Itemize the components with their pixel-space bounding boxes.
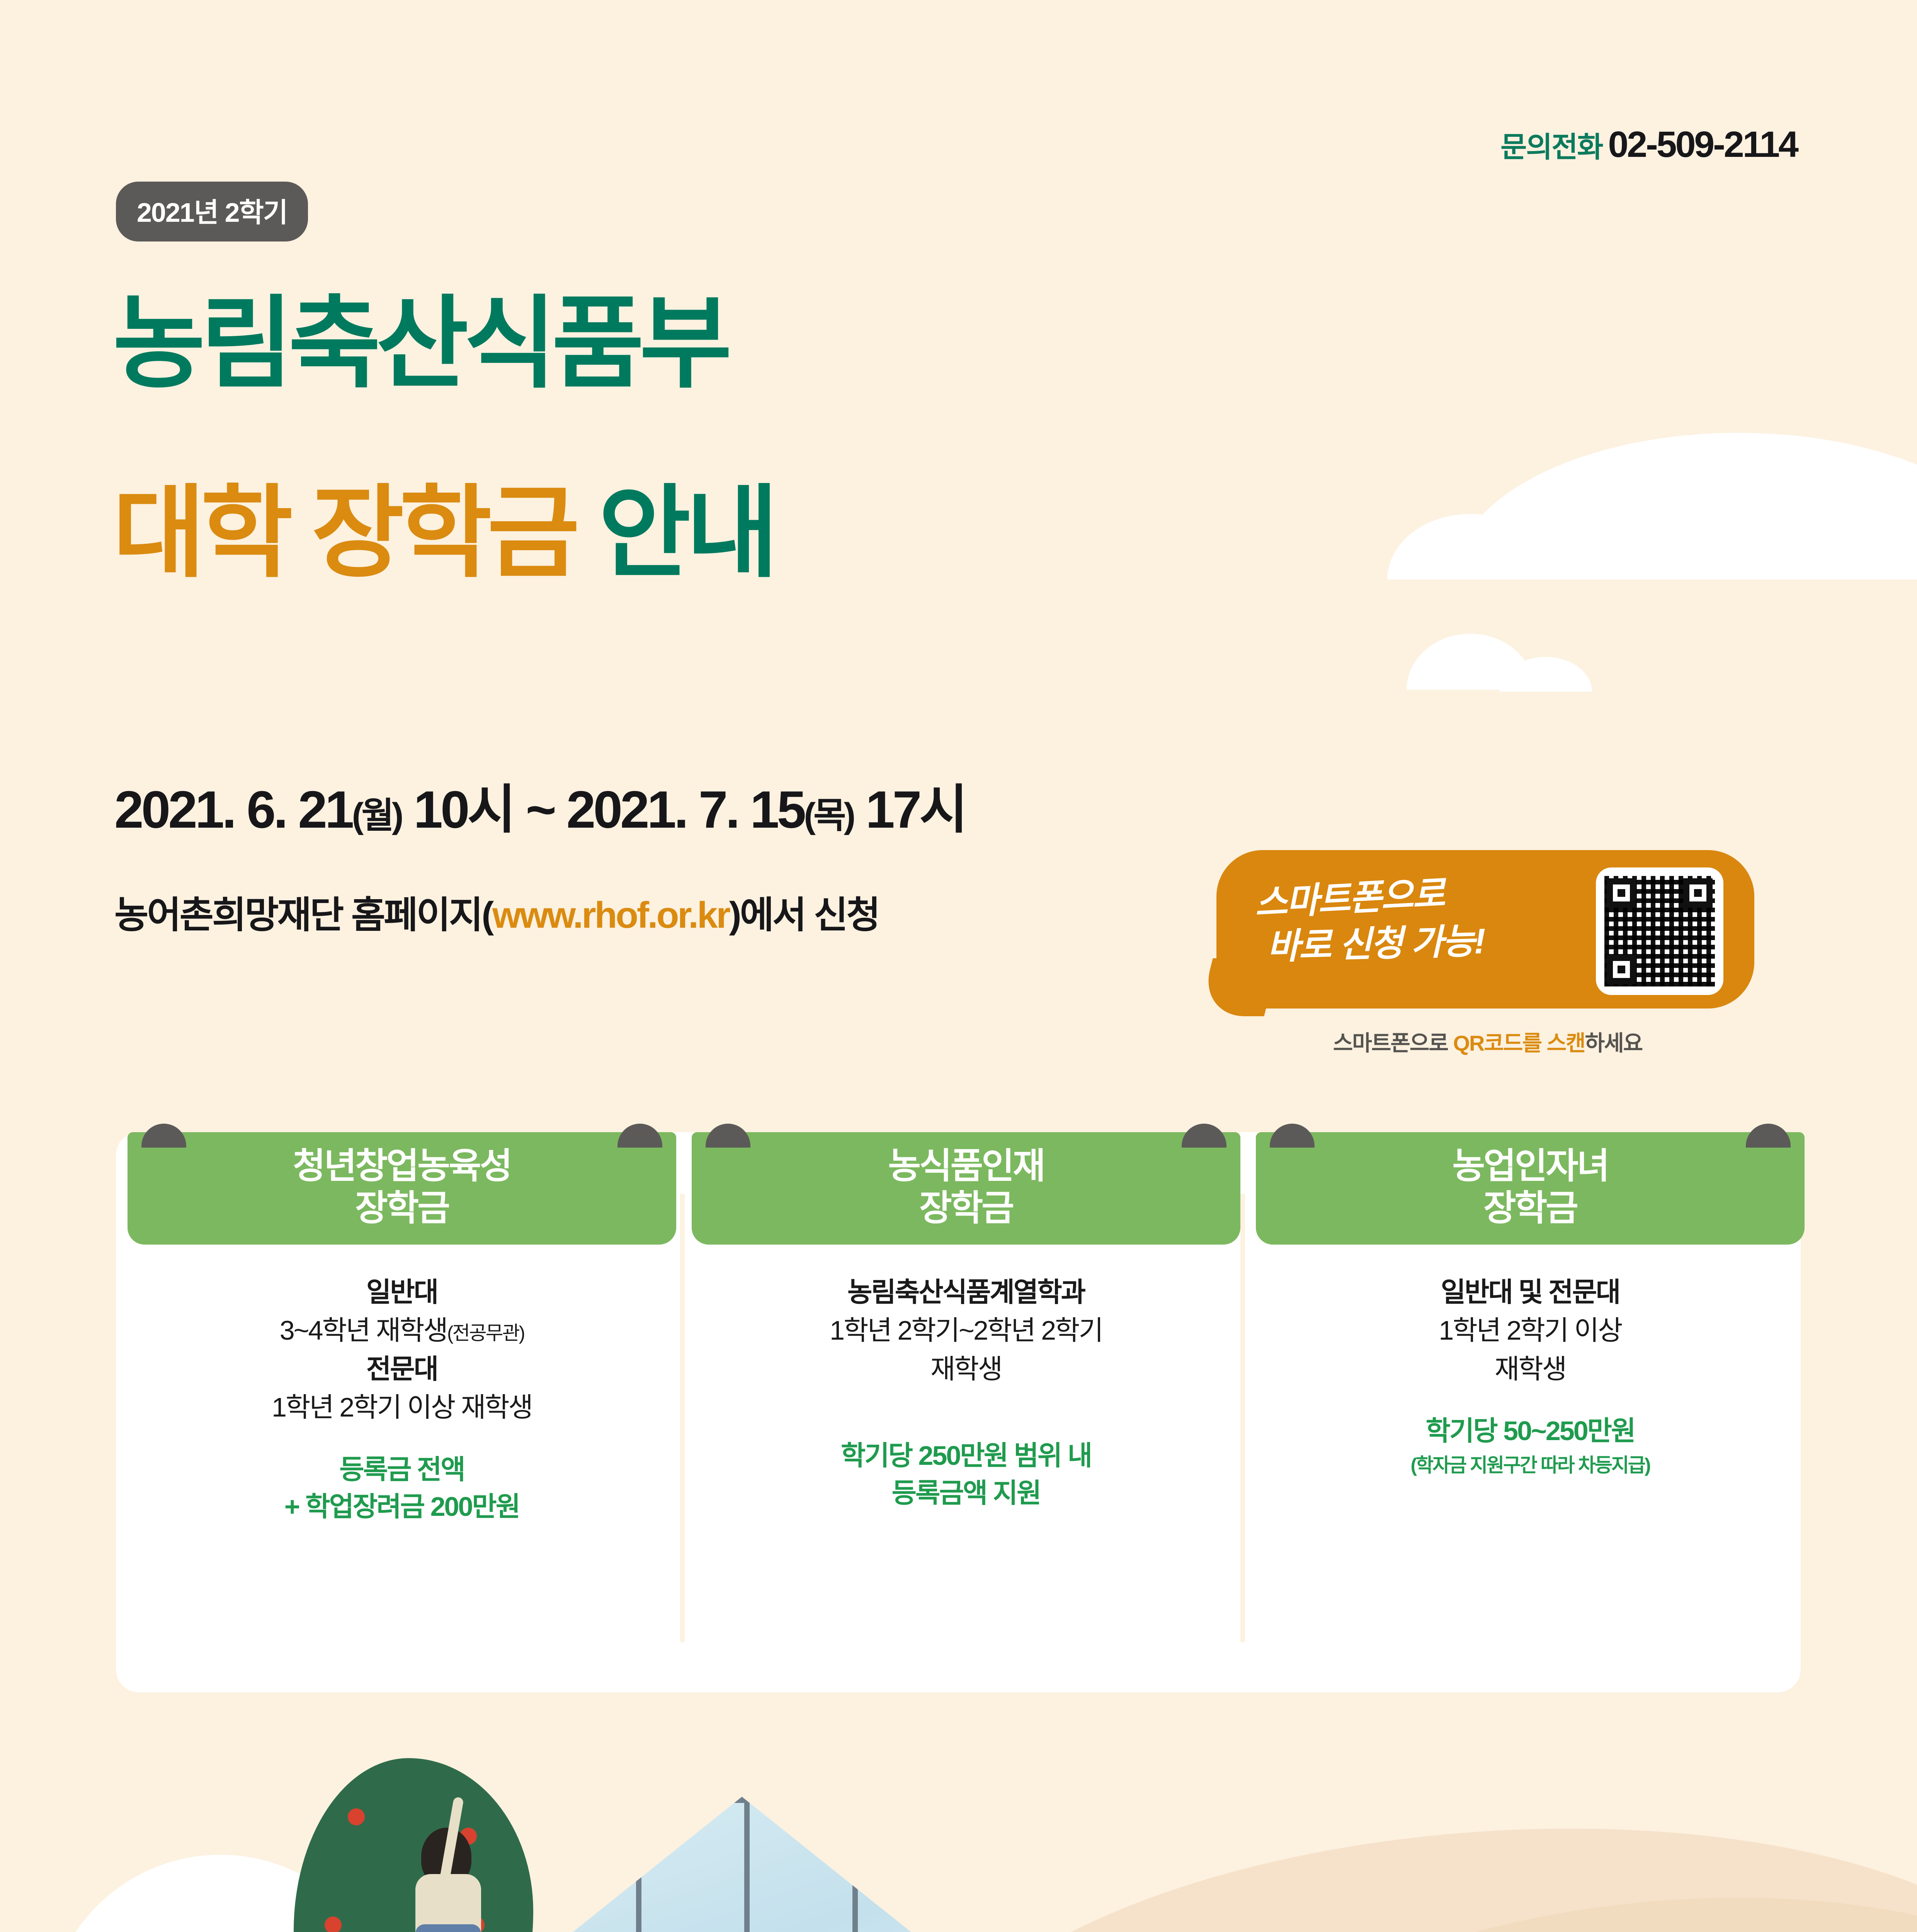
page-title-scholarship: 대학 장학금 <box>113 477 575 589</box>
qr-code-icon[interactable] <box>1596 867 1723 995</box>
qr-caption: 스마트폰으로 QR코드를 스캔하세요 <box>1252 1026 1723 1057</box>
card-amount-2: 학기당 250만원 범위 내 등록금액 지원 <box>701 1437 1231 1512</box>
card-tab-right-icon <box>617 1124 662 1148</box>
condition-item: 재학생 <box>1265 1350 1795 1388</box>
amount-line: 학기당 250만원 범위 내 <box>701 1437 1231 1475</box>
qr-finder-bottom-left-icon <box>1607 955 1636 984</box>
card-amount-1: 등록금 전액 + 학업장려금 200만원 <box>137 1451 667 1526</box>
farm-scene-illustration <box>0 1700 1917 1932</box>
qr-finder-top-left-icon <box>1607 878 1636 908</box>
apple-fruit <box>325 1917 342 1932</box>
scholarship-card-youth-startup[interactable]: 청년창업농육성 장학금 일반대 3~4학년 재학생(전공무관) 전문대 1학년 … <box>128 1132 676 1526</box>
amount-line: 등록금액 지원 <box>701 1475 1231 1512</box>
card-body-2: 농림축산식품계열학과 1학년 2학기~2학년 2학기 재학생 학기당 250만원… <box>692 1245 1240 1512</box>
application-url-link[interactable]: www.rhof.or.kr <box>492 895 729 936</box>
card-tab-left-icon <box>706 1124 750 1148</box>
condition-item: 일반대 및 전문대 <box>1265 1273 1795 1311</box>
card-tab-right-icon <box>1746 1124 1791 1148</box>
apply-suffix: )에서 신청 <box>729 895 879 936</box>
qr-caption-prefix: 스마트폰으로 <box>1333 1031 1453 1055</box>
condition-item: 일반대 <box>137 1273 667 1311</box>
card-tab-left-icon <box>1270 1124 1315 1148</box>
date-start-weekday: (월) <box>352 796 401 835</box>
card-title-line-2: 장학금 <box>1264 1187 1797 1230</box>
application-website-line: 농어촌희망재단 홈페이지(www.rhof.or.kr)에서 신청 <box>114 885 879 939</box>
card-header-3: 농업인자녀 장학금 <box>1256 1132 1805 1245</box>
amount-note: (학자금 지원구간 따라 차등지급) <box>1265 1452 1795 1479</box>
condition-suffix: (전공무관) <box>447 1322 524 1344</box>
card-title-line-1: 농식품인재 <box>699 1145 1233 1187</box>
card-tab-right-icon <box>1182 1124 1226 1148</box>
condition-item: 전문대 <box>137 1350 667 1388</box>
qr-finder-top-right-icon <box>1683 878 1713 908</box>
amount-line: 학기당 50~250만원 <box>1265 1412 1795 1450</box>
picker-overalls <box>415 1924 481 1932</box>
condition-item: 3~4학년 재학생(전공무관) <box>137 1311 667 1350</box>
amount-line: + 학업장려금 200만원 <box>137 1488 667 1526</box>
date-end-weekday: (목) <box>804 796 853 835</box>
contact-label: 문의전화 <box>1500 131 1602 163</box>
card-title-line-1: 농업인자녀 <box>1264 1145 1797 1187</box>
card-header-2: 농식품인재 장학금 <box>692 1132 1240 1245</box>
card-conditions-1: 일반대 3~4학년 재학생(전공무관) 전문대 1학년 2학기 이상 재학생 <box>137 1273 667 1427</box>
apply-prefix: 농어촌희망재단 홈페이지( <box>114 895 492 936</box>
card-conditions-2: 농림축산식품계열학과 1학년 2학기~2학년 2학기 재학생 <box>701 1273 1231 1388</box>
scholarship-card-agrifood-talent[interactable]: 농식품인재 장학금 농림축산식품계열학과 1학년 2학기~2학년 2학기 재학생… <box>692 1132 1240 1512</box>
condition-text: 3~4학년 재학생 <box>280 1315 447 1345</box>
page-title-line-1: 농림축산식품부 <box>113 294 727 394</box>
card-amount-3: 학기당 50~250만원 (학자금 지원구간 따라 차등지급) <box>1265 1412 1795 1479</box>
date-start: 2021. 6. 21 <box>114 780 352 839</box>
contact-phone: 문의전화02-509-2114 <box>1500 124 1797 166</box>
card-conditions-3: 일반대 및 전문대 1학년 2학기 이상 재학생 <box>1265 1273 1795 1388</box>
card-body-1: 일반대 3~4학년 재학생(전공무관) 전문대 1학년 2학기 이상 재학생 등… <box>128 1245 676 1526</box>
card-tab-left-icon <box>141 1124 186 1148</box>
poster-root: 문의전화02-509-2114 2021년 2학기 농림축산식품부 대학 장학금… <box>0 0 1917 1932</box>
condition-item: 1학년 2학기 이상 <box>1265 1311 1795 1350</box>
condition-item: 1학년 2학기 이상 재학생 <box>137 1388 667 1427</box>
card-divider-2 <box>1240 1194 1245 1642</box>
date-end-time: 17시 <box>866 780 965 839</box>
semester-badge: 2021년 2학기 <box>116 182 308 241</box>
date-end: 2021. 7. 15 <box>566 780 804 839</box>
condition-item: 재학생 <box>701 1350 1231 1388</box>
card-title-line-2: 장학금 <box>699 1187 1233 1230</box>
qr-bubble-text: 스마트폰으로 바로 신청 가능! <box>1254 863 1575 976</box>
card-divider-1 <box>680 1194 685 1642</box>
contact-number: 02-509-2114 <box>1608 124 1797 165</box>
card-title-line-2: 장학금 <box>135 1187 668 1230</box>
card-title-line-1: 청년창업농육성 <box>135 1145 668 1187</box>
date-separator: ~ <box>526 780 554 839</box>
card-body-3: 일반대 및 전문대 1학년 2학기 이상 재학생 학기당 50~250만원 (학… <box>1256 1245 1805 1479</box>
application-period: 2021. 6. 21(월) 10시 ~ 2021. 7. 15(목) 17시 <box>114 767 965 843</box>
page-title-line-2: 대학 장학금 안내 <box>113 483 774 583</box>
condition-item: 1학년 2학기~2학년 2학기 <box>701 1311 1231 1350</box>
qr-bubble-line-2: 바로 신청 가능! <box>1267 915 1575 971</box>
qr-caption-highlight: QR코드를 스캔 <box>1453 1031 1585 1055</box>
condition-item: 농림축산식품계열학과 <box>701 1273 1231 1311</box>
card-header-1: 청년창업농육성 장학금 <box>128 1132 676 1245</box>
greenhouse-frame-bar <box>744 1803 750 1932</box>
amount-line: 등록금 전액 <box>137 1451 667 1488</box>
qr-code-pattern <box>1604 876 1715 986</box>
scholarship-card-farmer-children[interactable]: 농업인자녀 장학금 일반대 및 전문대 1학년 2학기 이상 재학생 학기당 5… <box>1256 1132 1805 1479</box>
apple-fruit <box>348 1808 365 1825</box>
date-start-time: 10시 <box>413 780 513 839</box>
qr-bubble-line-1: 스마트폰으로 <box>1254 874 1445 923</box>
page-title-guide: 안내 <box>598 477 774 589</box>
qr-caption-suffix: 하세요 <box>1585 1031 1643 1055</box>
